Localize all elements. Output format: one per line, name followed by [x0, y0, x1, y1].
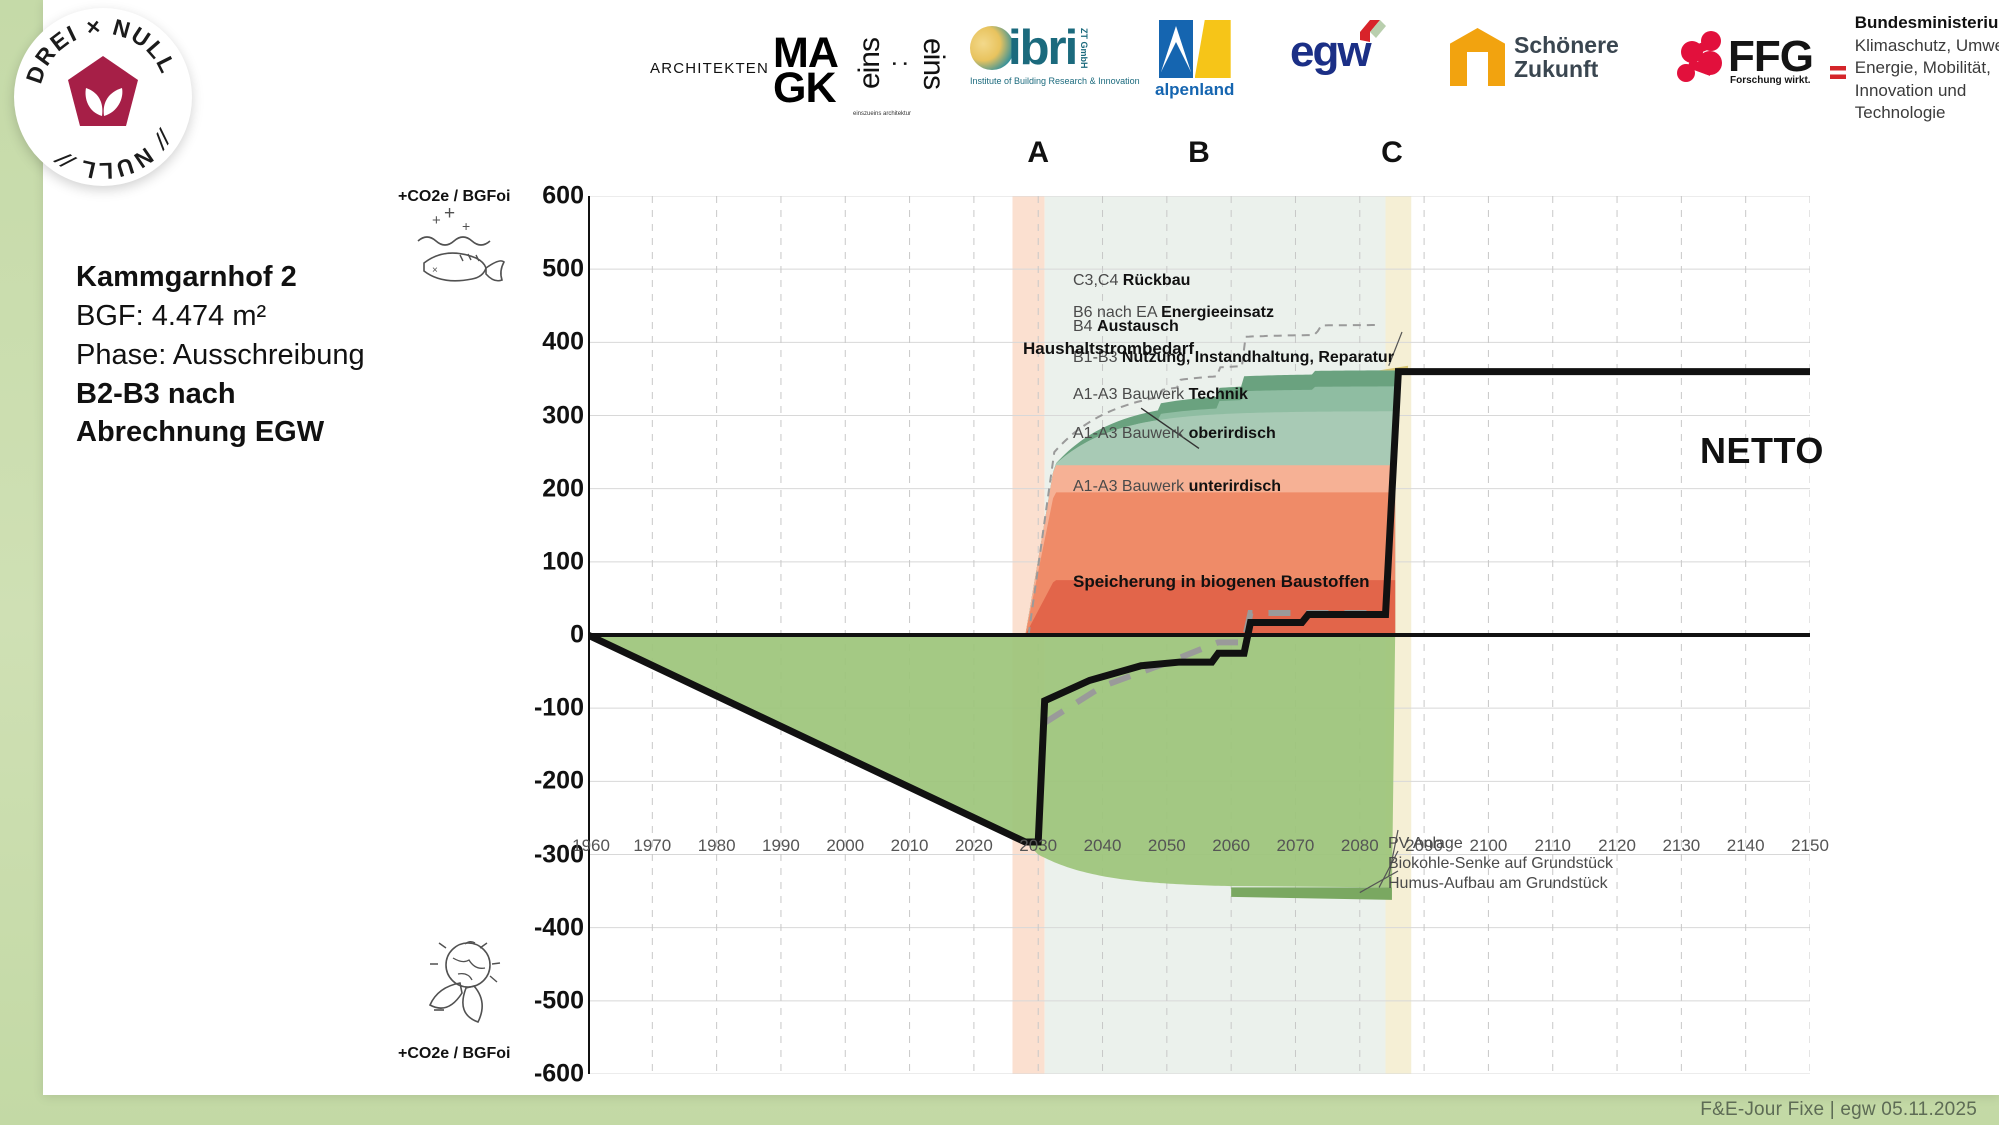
annotation-haushaltstrombedarf: Haushaltstrombedarf	[1023, 339, 1194, 359]
alpenland-logo: alpenland	[1155, 20, 1234, 100]
lifecycle-co2-chart: 6005004003002001000-100-200-300-400-500-…	[588, 196, 1810, 1074]
svg-text:×: ×	[432, 265, 438, 276]
y-tick-label: 300	[474, 401, 584, 430]
x-tick-label: 2070	[1277, 836, 1315, 856]
x-tick-label: 2130	[1662, 836, 1700, 856]
partner-logo-strip: ARCHITEKTEN MA GK eins : eins einszueins…	[650, 8, 1990, 118]
series-label-plain: C3,C4	[1073, 272, 1123, 289]
caption-note1: B2-B3 nach	[76, 375, 456, 414]
series-label-a1-a3-bauwerk-unterirdisch: A1-A3 Bauwerk unterirdisch	[1073, 478, 1281, 497]
y-tick-label: -600	[474, 1060, 584, 1089]
phase-marker-B: B	[1188, 136, 1210, 170]
drei-null-null-logo: DREI × NULL ⁄⁄ NULL ⁄⁄	[14, 8, 192, 186]
x-tick-label: 2140	[1727, 836, 1765, 856]
x-tick-label: 2060	[1212, 836, 1250, 856]
series-label-plain: A1-A3 Bauwerk	[1073, 478, 1189, 495]
y-tick-label: 200	[474, 474, 584, 503]
ffg-subtitle: Forschung wirkt.	[1730, 75, 1811, 86]
series-label-plain: A1-A3 Bauwerk	[1073, 386, 1189, 403]
series-label-emphasis: Austausch	[1097, 318, 1179, 335]
eins-word-1: eins	[855, 38, 885, 89]
sz-line1: Schönere	[1514, 33, 1619, 57]
ibri-wordmark: ibri	[1008, 26, 1076, 70]
slide-footer: F&E-Jour Fixe | egw 05.11.2025	[0, 1095, 1999, 1125]
series-label-a1-a3-bauwerk-technik: A1-A3 Bauwerk Technik	[1073, 386, 1248, 405]
ffg-dots-icon	[1670, 30, 1726, 84]
eins-dots-icon: :	[886, 60, 917, 67]
alpenland-mark-icon	[1159, 20, 1231, 78]
ibri-logo: ibri ZT GmbH Institute of Building Resea…	[970, 26, 1099, 70]
chart-svg	[588, 196, 1810, 1074]
x-tick-label: 1960	[572, 836, 610, 856]
series-label-a1-a3-bauwerk-oberirdisch: A1-A3 Bauwerk oberirdisch	[1073, 425, 1276, 444]
project-caption: Kammgarnhof 2 BGF: 4.474 m² Phase: Aussc…	[76, 258, 456, 452]
x-tick-label: 2080	[1341, 836, 1379, 856]
series-label-plain: B4	[1073, 318, 1097, 335]
x-tick-label: 2010	[891, 836, 929, 856]
y-tick-label: 400	[474, 328, 584, 357]
page-title: Kammgarnhof 2	[76, 258, 456, 297]
y-tick-label: 500	[474, 255, 584, 284]
y-tick-label: 600	[474, 182, 584, 211]
schoenere-zukunft-logo: Schönere Zukunft	[1450, 28, 1619, 86]
series-label-b4-austausch: B4 Austausch	[1073, 318, 1179, 337]
series-label-speicherung-in-biogenen-baustoffen: Speicherung in biogenen Baustoffen	[1073, 572, 1370, 592]
egw-logo: egw	[1290, 32, 1370, 72]
y-tick-label: -400	[474, 913, 584, 942]
x-tick-label: 1980	[698, 836, 736, 856]
y-tick-label: -100	[474, 694, 584, 723]
alpenland-wordmark: alpenland	[1155, 80, 1234, 100]
series-label-emphasis: Technik	[1189, 386, 1248, 403]
y-tick-label: -200	[474, 767, 584, 796]
einszueins-architektur-logo: eins : eins einszueins architektur	[855, 24, 930, 104]
svg-text:+: +	[432, 212, 441, 229]
annotation-pv-anlage: PV Anlage	[1388, 835, 1463, 854]
x-tick-label: 2000	[826, 836, 864, 856]
x-tick-label: 2150	[1791, 836, 1829, 856]
x-tick-label: 1970	[633, 836, 671, 856]
x-tick-label: 2050	[1148, 836, 1186, 856]
ffg-wordmark: FFG	[1728, 37, 1813, 77]
caption-note2: Abrechnung EGW	[76, 413, 456, 452]
bundesministerium-logo: Bundesministerium Klimaschutz, Umwelt, E…	[1830, 12, 1999, 125]
y-tick-label: -300	[474, 840, 584, 869]
series-label-plain: A1-A3 Bauwerk	[1073, 425, 1189, 442]
ibri-subtitle: Institute of Building Research & Innovat…	[970, 76, 1140, 86]
bmk-title: Bundesministerium	[1855, 13, 1999, 32]
y-tick-label: -500	[474, 986, 584, 1015]
x-tick-label: 2020	[955, 836, 993, 856]
caption-bgf: BGF: 4.474 m²	[76, 297, 456, 336]
series-label-emphasis: oberirdisch	[1189, 425, 1276, 442]
ffg-logo: FFG Forschung wirkt.	[1670, 30, 1813, 84]
magk-architekten-logo: ARCHITEKTEN MA GK	[650, 36, 838, 107]
series-label-emphasis: Rückbau	[1123, 272, 1191, 289]
y-tick-label: 100	[474, 547, 584, 576]
schoenere-zukunft-house-icon	[1450, 28, 1505, 86]
annotation-humus-aufbau: Humus-Aufbau am Grundstück	[1388, 875, 1608, 894]
ibri-zt: ZT GmbH	[1079, 28, 1089, 69]
x-tick-label: 2110	[1534, 836, 1571, 856]
bmk-line1: Klimaschutz, Umwelt,	[1855, 36, 1999, 55]
series-label-c3-c4-r-ckbau: C3,C4 Rückbau	[1073, 272, 1190, 291]
austria-flag-icon	[1830, 66, 1846, 79]
svg-text:+: +	[444, 205, 455, 224]
x-tick-label: 2120	[1598, 836, 1636, 856]
logo-graphic: DREI × NULL ⁄⁄ NULL ⁄⁄	[14, 8, 192, 186]
eins-word-2: eins	[918, 38, 948, 89]
egw-house-icon	[1358, 18, 1388, 48]
bmk-line3: Innovation und Technologie	[1855, 81, 1967, 123]
y-tick-label: 0	[474, 621, 584, 650]
footer-text: F&E-Jour Fixe | egw 05.11.2025	[1700, 1099, 1977, 1121]
x-tick-label: 2030	[1019, 836, 1057, 856]
eins-subtitle: einszueins architektur	[853, 111, 911, 117]
annotation-netto-label: NETTO	[1700, 430, 1824, 472]
x-tick-label: 2040	[1084, 836, 1122, 856]
x-tick-label: 1990	[762, 836, 800, 856]
phase-marker-C: C	[1381, 136, 1403, 170]
svg-text:+: +	[462, 218, 470, 234]
phase-marker-A: A	[1027, 136, 1049, 170]
bmk-line2: Energie, Mobilität,	[1855, 58, 1991, 77]
magk-prefix: ARCHITEKTEN	[650, 60, 769, 82]
series-label-emphasis: unterirdisch	[1189, 478, 1281, 495]
caption-phase: Phase: Ausschreibung	[76, 336, 456, 375]
annotation-biokohle-senke: Biokohle-Senke auf Grundstück	[1388, 855, 1613, 874]
sz-line2: Zukunft	[1514, 57, 1619, 81]
x-tick-label: 2100	[1469, 836, 1507, 856]
magk-line2: GK	[773, 71, 838, 106]
